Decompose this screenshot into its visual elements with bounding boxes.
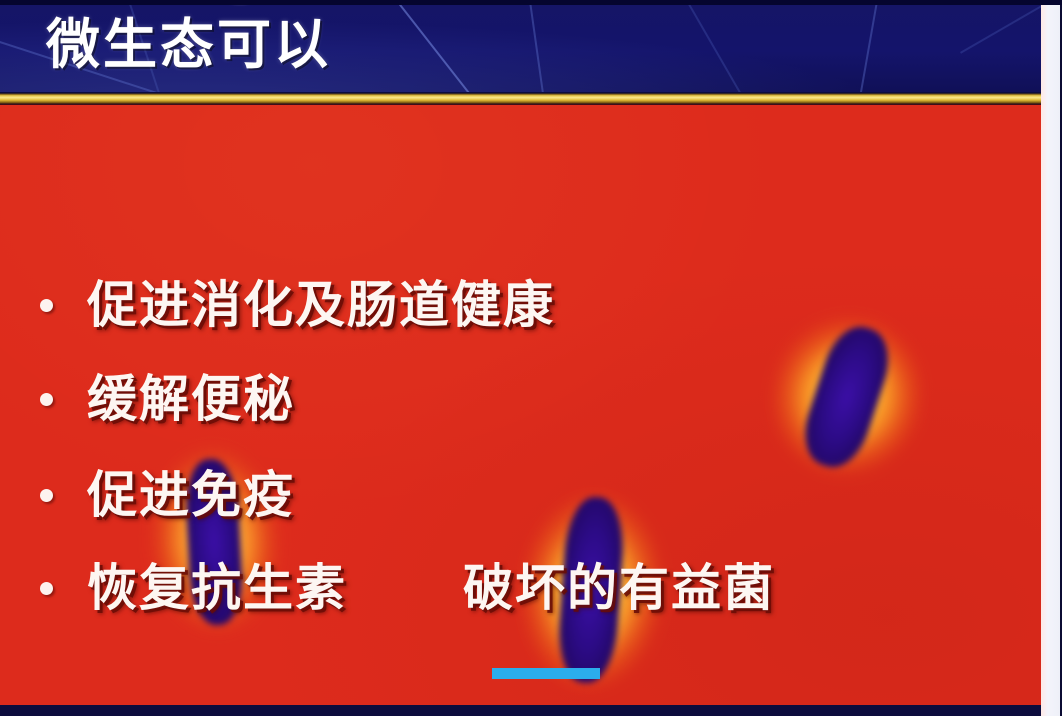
bullet-label: 促进免疫 [87,467,295,523]
slide-body: 促进消化及肠道健康 缓解便秘 促进免疫 恢复抗生素 破坏的有益菌 微生态辣椒油粉… [0,105,1043,706]
cyan-underline-mark [492,668,600,679]
list-item: 促进免疫 [40,467,295,523]
list-item: 恢复抗生素 破坏的有益菌 [40,560,775,616]
bullet-label-continued: 破坏的有益菌 [463,560,775,616]
header-decoration-line [843,0,880,93]
bullet-label: 缓解便秘 [87,371,295,427]
header-decoration-line [353,0,472,93]
gold-divider [0,92,1043,106]
bullet-dot-icon [40,489,53,502]
list-item: 缓解便秘 [40,371,295,427]
bullet-dot-icon [40,393,53,406]
bullet-list: 促进消化及肠道健康 缓解便秘 促进免疫 恢复抗生素 破坏的有益菌 [0,105,1043,706]
header-decoration-line [688,4,765,93]
list-item: 促进消化及肠道健康 [40,277,555,333]
bullet-dot-icon [40,582,53,595]
header-decoration-line [528,0,562,93]
bullet-dot-icon [40,299,53,312]
slide-title: 微生态可以 [46,7,331,83]
video-frame: 微生态可以 促进消化及肠道健康 缓解便秘 [0,0,1062,716]
slide-header: 微生态可以 [0,0,1043,93]
right-white-band [1041,0,1060,716]
top-letterbox [0,0,1062,5]
header-decoration-line [960,0,1043,54]
bullet-label: 恢复抗生素 [87,560,347,616]
bottom-letterbox [0,705,1043,716]
bullet-label: 促进消化及肠道健康 [87,277,555,333]
